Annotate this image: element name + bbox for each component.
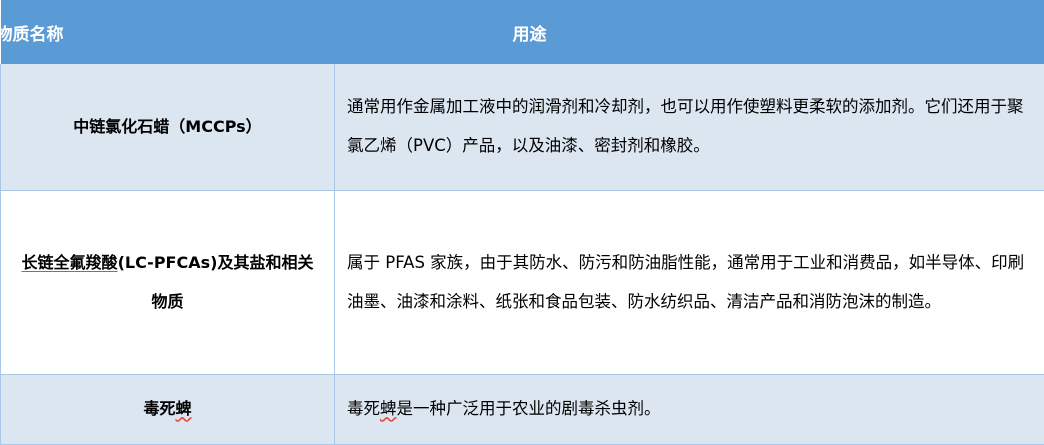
- cell-substance-name: 毒死蜱: [1, 375, 335, 445]
- substance-usage-table: 物质名称 用途 中链氯化石蜡（MCCPs）通常用作金属加工液中的润滑剂和冷却剂，…: [0, 0, 1044, 445]
- usage-segment: 通常用作金属加工液中的润滑剂和冷却剂，也可以用作使塑料更柔软的添加剂。它们还用于…: [347, 97, 1024, 155]
- column-header-usage: 用途: [335, 0, 1044, 64]
- substance-name-segment: 长链全氟羧酸: [22, 253, 118, 272]
- usage-segment: 蜱: [380, 399, 397, 418]
- table-header: 物质名称 用途: [1, 0, 1044, 64]
- table-header-row: 物质名称 用途: [1, 0, 1044, 64]
- column-header-substance-name: 物质名称: [1, 0, 335, 64]
- cell-substance-name: 中链氯化石蜡（MCCPs）: [1, 64, 335, 191]
- substance-name-segment: 蜱: [176, 399, 192, 418]
- table-row: 长链全氟羧酸(LC-PFCAs)及其盐和相关物质属于 PFAS 家族，由于其防水…: [1, 191, 1044, 375]
- table-row: 中链氯化石蜡（MCCPs）通常用作金属加工液中的润滑剂和冷却剂，也可以用作使塑料…: [1, 64, 1044, 191]
- column-header-substance-name-label: 物质名称: [0, 20, 64, 45]
- cell-usage: 通常用作金属加工液中的润滑剂和冷却剂，也可以用作使塑料更柔软的添加剂。它们还用于…: [335, 64, 1044, 191]
- usage-segment: 是一种广泛用于农业的剧毒杀虫剂。: [397, 399, 661, 418]
- cell-usage: 属于 PFAS 家族，由于其防水、防污和防油脂性能，通常用于工业和消费品，如半导…: [335, 191, 1044, 375]
- usage-segment: 毒死: [347, 399, 380, 418]
- substance-name-segment: 中链氯化石蜡（MCCPs）: [73, 117, 261, 136]
- substance-name-segment: 毒死: [143, 399, 175, 418]
- cell-substance-name: 长链全氟羧酸(LC-PFCAs)及其盐和相关物质: [1, 191, 335, 375]
- column-header-usage-label: 用途: [513, 20, 547, 45]
- usage-segment: 属于 PFAS 家族，由于其防水、防污和防油脂性能，通常用于工业和消费品，如半导…: [347, 253, 1024, 311]
- table-body: 中链氯化石蜡（MCCPs）通常用作金属加工液中的润滑剂和冷却剂，也可以用作使塑料…: [1, 64, 1044, 445]
- cell-usage: 毒死蜱是一种广泛用于农业的剧毒杀虫剂。: [335, 375, 1044, 445]
- table-row: 毒死蜱毒死蜱是一种广泛用于农业的剧毒杀虫剂。: [1, 375, 1044, 445]
- substance-name-segment: (LC-PFCAs)及其盐和相关物质: [118, 253, 314, 310]
